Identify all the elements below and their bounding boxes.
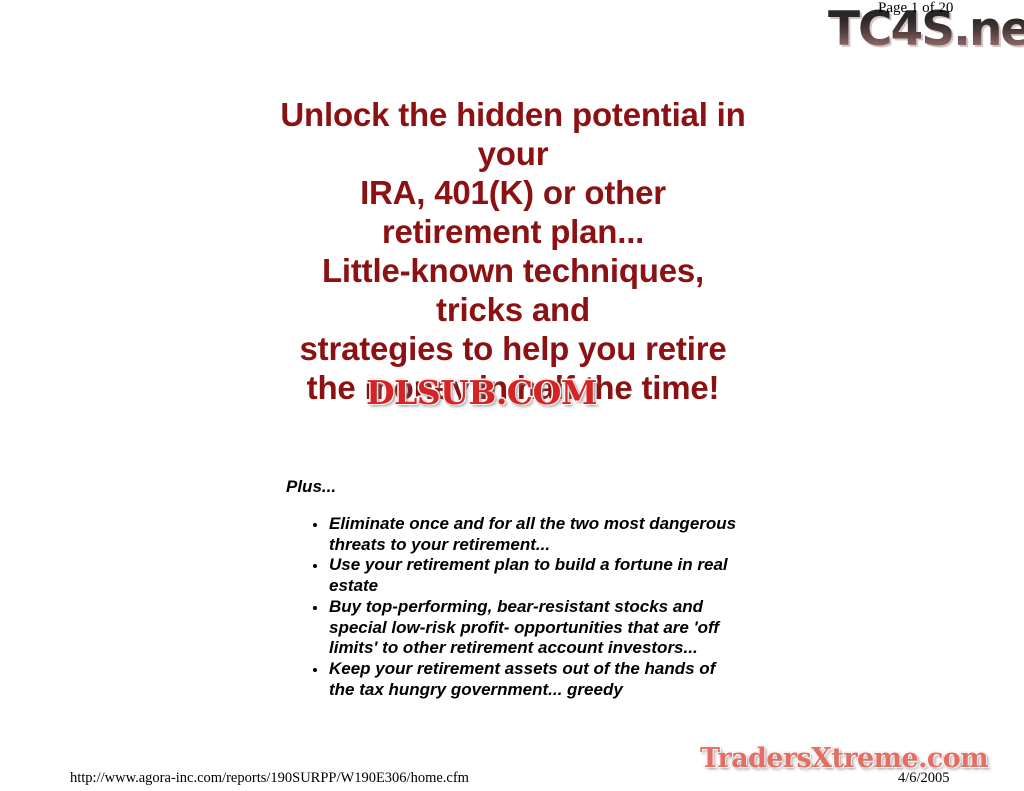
footer-source-url: http://www.agora-inc.com/reports/190SURP… bbox=[70, 770, 469, 787]
headline-line-2: your bbox=[235, 134, 791, 173]
dlsub-watermark-text: DLSUB.COM bbox=[366, 373, 597, 412]
benefits-list: Eliminate once and for all the two most … bbox=[310, 514, 740, 700]
headline-line-7: strategies to help you retire bbox=[235, 329, 791, 368]
list-item: Eliminate once and for all the two most … bbox=[310, 514, 740, 555]
page-number: Page 1 of 20 bbox=[878, 0, 953, 17]
headline-line-5: Little-known techniques, bbox=[235, 251, 791, 290]
slide-canvas: TC4S.net Page 1 of 20 Unlock the hidden … bbox=[0, 0, 1024, 791]
list-item: Buy top-performing, bear-resistant stock… bbox=[310, 597, 740, 659]
headline-line-3: IRA, 401(K) or other bbox=[235, 173, 791, 212]
page-title: Unlock the hidden potential in your IRA,… bbox=[235, 95, 791, 407]
dlsub-watermark: DLSUB.COM bbox=[366, 376, 597, 409]
plus-lead-in: Plus... bbox=[286, 476, 336, 497]
headline-line-1: Unlock the hidden potential in bbox=[235, 95, 791, 134]
footer-date: 4/6/2005 bbox=[898, 770, 950, 787]
list-item: Use your retirement plan to build a fort… bbox=[310, 555, 740, 596]
headline-line-6: tricks and bbox=[235, 290, 791, 329]
headline-line-4: retirement plan... bbox=[235, 212, 791, 251]
list-item: Keep your retirement assets out of the h… bbox=[310, 659, 740, 700]
